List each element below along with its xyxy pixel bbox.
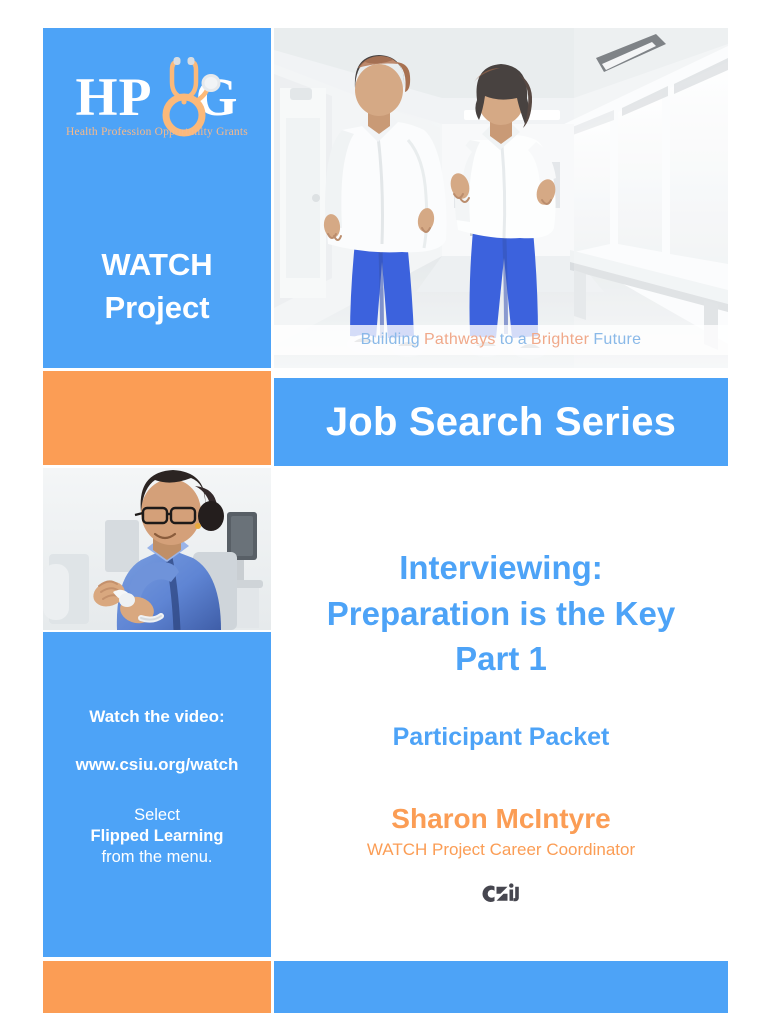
hero-tagline-word-5: Future: [593, 331, 641, 349]
watch-video-label: Watch the video:: [43, 707, 271, 727]
hero-tagline-word-0: Building: [361, 331, 420, 349]
watch-video-block: Watch the video: www.csiu.org/watch Sele…: [43, 707, 271, 868]
watch-project-title-line1: WATCH: [43, 244, 271, 287]
sidebar-orange-block: [43, 371, 271, 465]
hpog-tagline: Health Profession Opportunity Grants: [43, 126, 271, 138]
job-search-series-title: Job Search Series: [326, 400, 676, 445]
hero-tagline: Building Pathways to a Brighter Future: [274, 325, 728, 355]
page-title-line1: Interviewing:: [274, 545, 728, 591]
page-title: Interviewing: Preparation is the Key Par…: [274, 545, 728, 682]
hpog-logo: HPOG Health Profession Opportunity Grant…: [43, 60, 271, 170]
csiu-logo: [480, 877, 522, 907]
participant-photo: [43, 468, 271, 630]
hero-tagline-word-4: Brighter: [531, 331, 589, 349]
presenter-name: Sharon McIntyre: [274, 803, 728, 835]
main-title-area: Interviewing: Preparation is the Key Par…: [274, 545, 728, 860]
page-title-line3: Part 1: [274, 636, 728, 682]
watch-video-url-link[interactable]: www.csiu.org/watch: [43, 755, 271, 775]
hero-tagline-word-2: to: [500, 331, 514, 349]
watch-project-title-line2: Project: [43, 287, 271, 330]
presenter-role: WATCH Project Career Coordinator: [274, 840, 728, 860]
footer-blue-strip: [274, 961, 728, 1013]
menu-instruction-line2: Flipped Learning: [43, 826, 271, 847]
page-title-line2: Preparation is the Key: [274, 591, 728, 637]
hero-photo-graphic: [274, 28, 728, 368]
watch-project-title: WATCH Project: [43, 244, 271, 330]
hpog-wordmark: HPOG: [43, 70, 271, 124]
job-search-series-banner: Job Search Series: [274, 378, 728, 466]
hero-tagline-word-3: a: [518, 331, 527, 349]
packet-type-label: Participant Packet: [274, 723, 728, 752]
hero-photo: Building Pathways to a Brighter Future: [274, 28, 728, 368]
footer-orange-strip: [43, 961, 271, 1013]
hero-tagline-word-1: Pathways: [424, 331, 496, 349]
menu-instruction-line3: from the menu.: [43, 847, 271, 868]
menu-instructions: Select Flipped Learning from the menu.: [43, 805, 271, 868]
page-canvas: HPOG Health Profession Opportunity Grant…: [0, 0, 770, 1024]
participant-photo-graphic: [43, 468, 271, 630]
menu-instruction-line1: Select: [43, 805, 271, 826]
